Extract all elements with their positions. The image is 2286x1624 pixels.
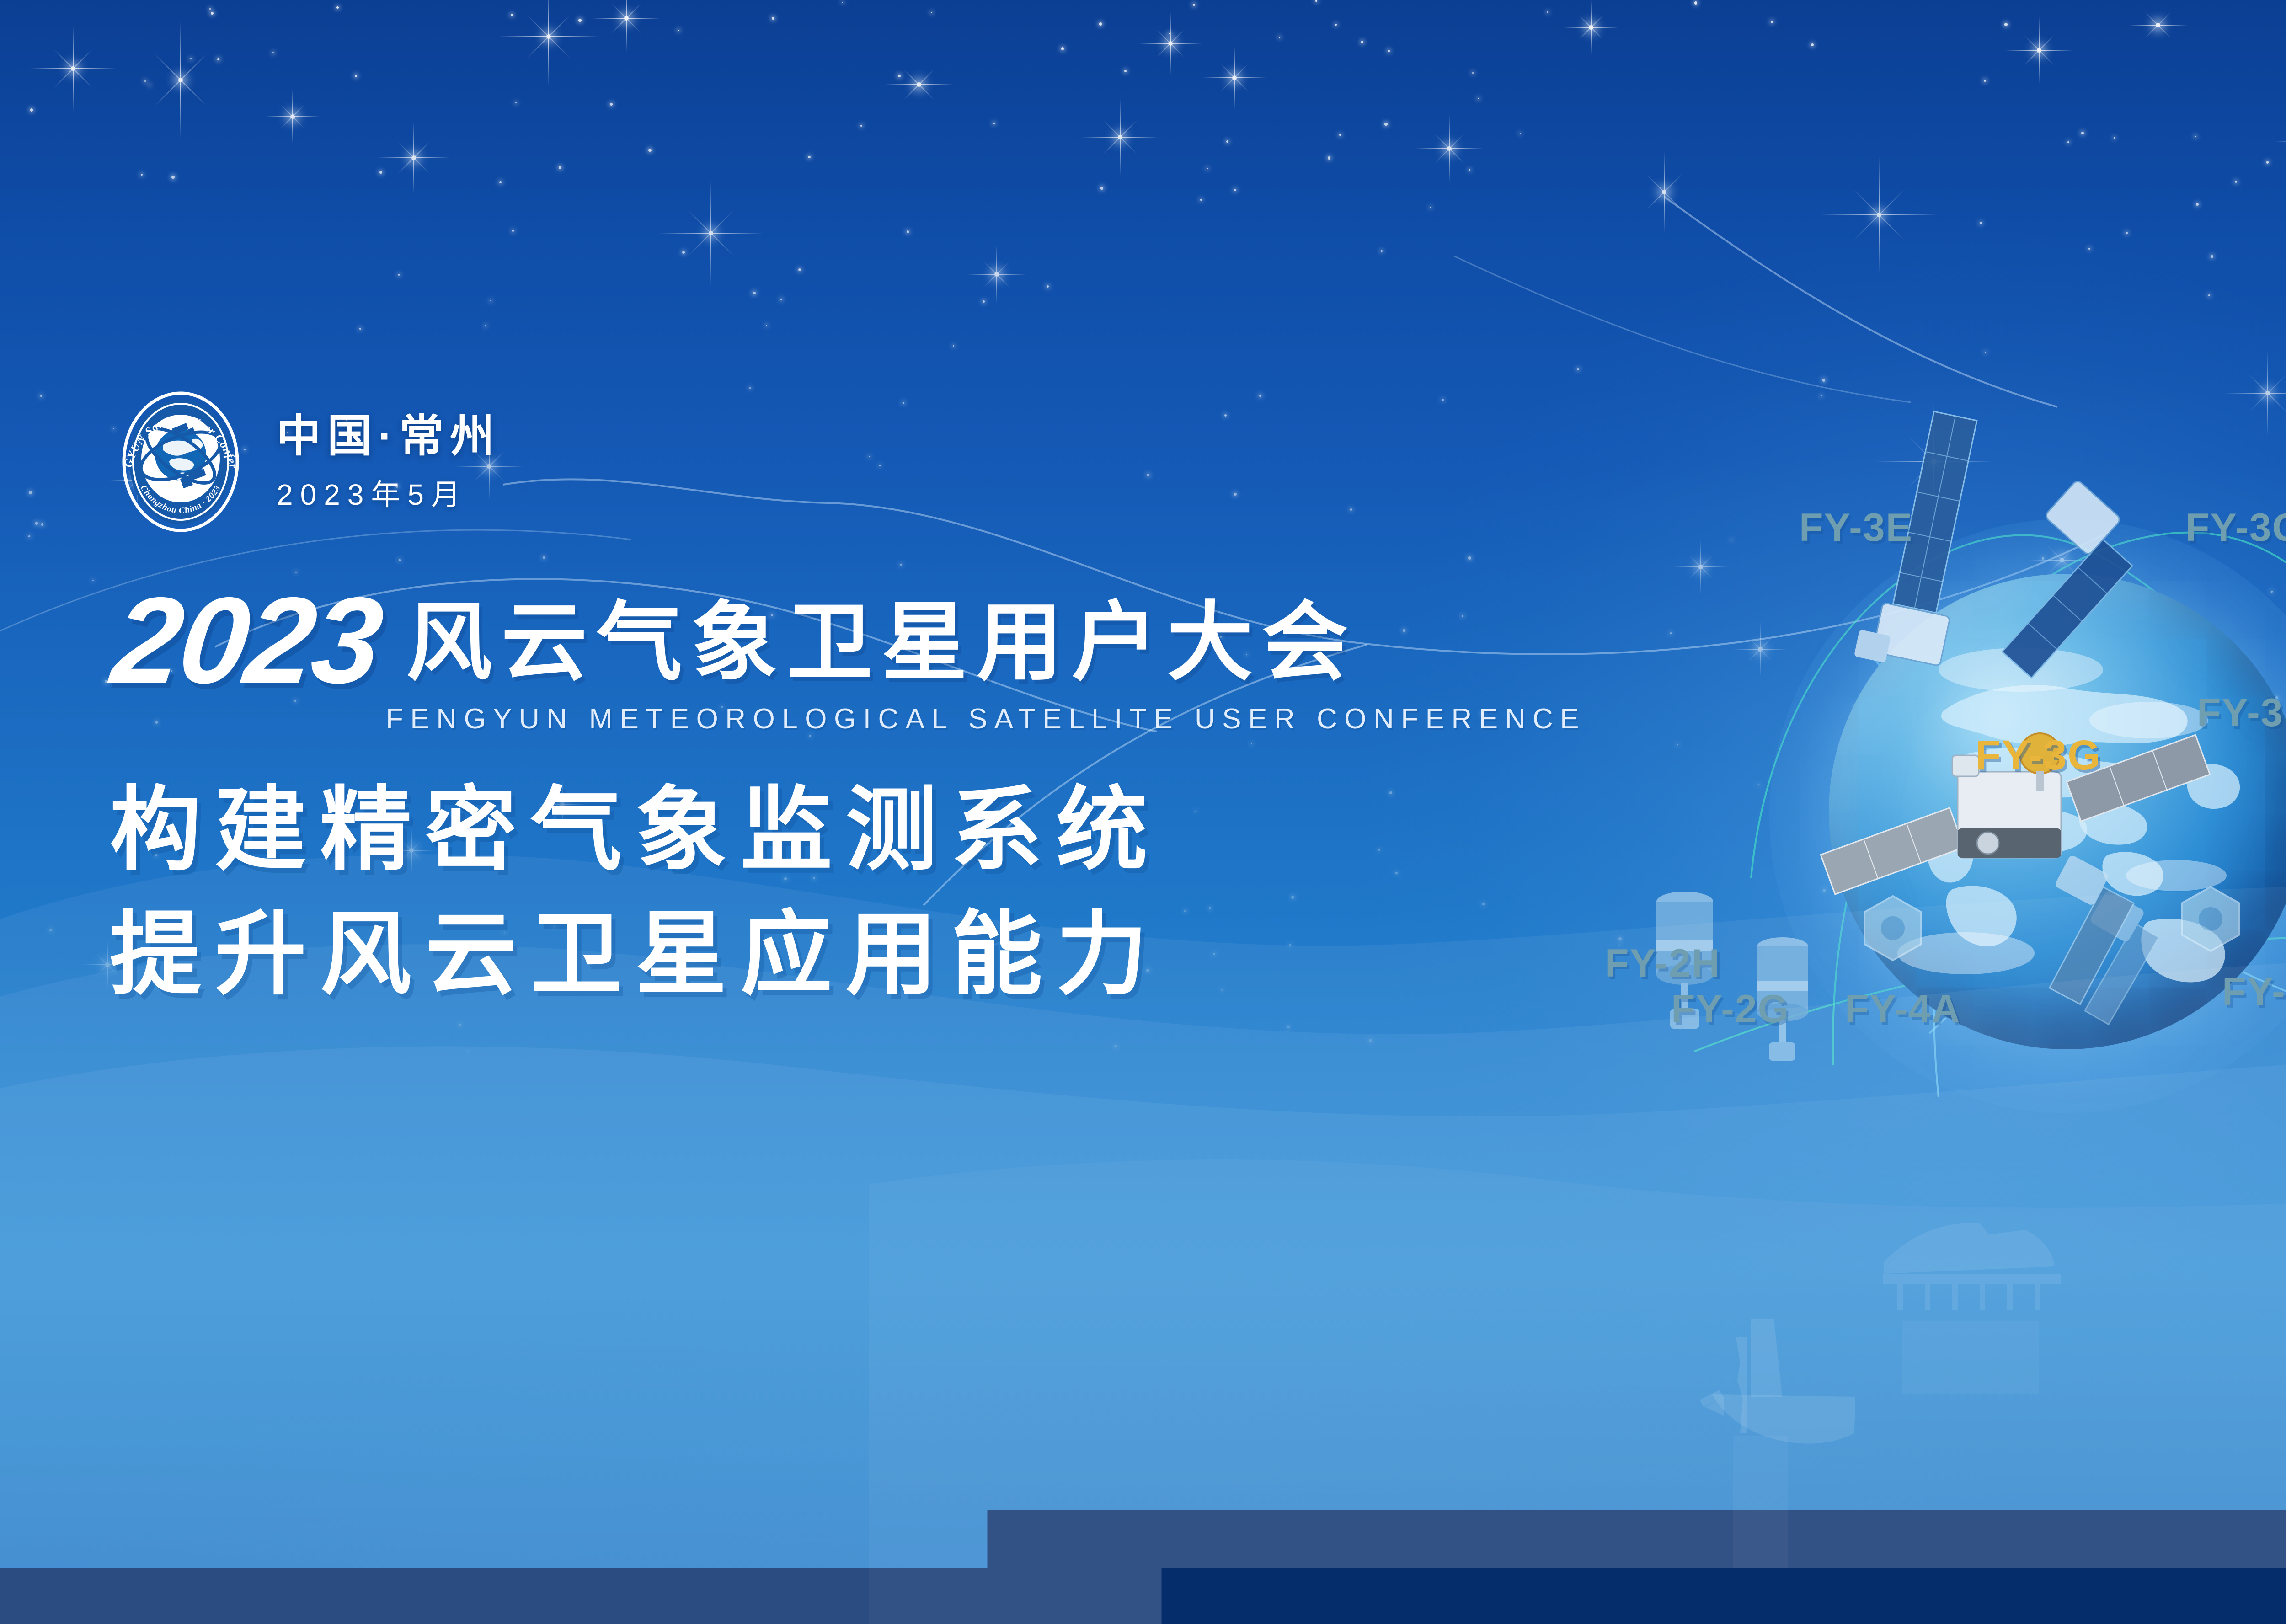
star-dot — [1234, 189, 1236, 191]
star-dot — [499, 181, 502, 184]
star-dot — [1388, 50, 1390, 52]
star-sparkle-icon — [498, 0, 599, 87]
star-dot — [1193, 4, 1195, 6]
star-sparkle-icon — [2005, 16, 2073, 85]
star-dot — [808, 156, 810, 158]
star-sparkle-icon — [2224, 350, 2286, 437]
logo-block: FENGYUN Satellite User Conference Changz… — [112, 386, 501, 537]
star-sparkle-icon — [2275, 103, 2286, 181]
star-dot — [578, 19, 582, 22]
star-dot — [217, 58, 219, 60]
star-dot — [1980, 222, 1982, 224]
satellite-label-fy-4b: FY-4B — [2222, 969, 2286, 1015]
sailboat-silhouette — [1700, 1319, 1855, 1444]
star-dot — [1442, 399, 1444, 401]
star-dot — [1430, 207, 1431, 208]
star-dot — [798, 268, 801, 271]
star-dot — [1213, 953, 1215, 955]
star-dot — [459, 1024, 461, 1026]
star-sparkle-icon — [1820, 155, 1939, 274]
star-sparkle-icon — [1733, 622, 1788, 677]
star-dot — [780, 299, 782, 300]
star-dot — [1472, 72, 1474, 74]
star-sparkle-icon — [121, 21, 240, 139]
star-dot — [869, 456, 870, 457]
star-dot — [1381, 250, 1383, 252]
star-dot — [30, 108, 33, 112]
star-dot — [993, 123, 995, 124]
star-sparkle-icon — [2128, 0, 2188, 55]
conference-poster: FENGYUN Satellite User Conference Changz… — [0, 0, 2286, 1624]
star-dot — [1224, 414, 1227, 417]
star-dot — [1984, 80, 1986, 82]
star-dot — [2081, 132, 2084, 134]
star-dot — [1251, 743, 1252, 744]
star-dot — [1291, 896, 1294, 899]
star-sparkle-icon — [30, 25, 117, 112]
star-dot — [1694, 1, 1698, 5]
star-dot — [2211, 255, 2213, 258]
star-sparkle-icon — [265, 89, 320, 144]
star-dot — [105, 680, 107, 683]
star-dot — [1395, 872, 1398, 874]
star-dot — [1279, 37, 1280, 38]
skyline-silhouette — [1883, 1223, 2061, 1310]
star-dot — [1339, 134, 1341, 136]
star-dot — [399, 559, 401, 561]
star-dot — [2004, 23, 2008, 26]
star-dot — [141, 174, 143, 176]
star-dot — [2196, 203, 2199, 206]
star-dot — [1378, 849, 1380, 851]
star-dot — [190, 58, 192, 59]
star-dot — [749, 387, 751, 389]
star-dot — [2266, 161, 2269, 164]
star-dot — [1811, 43, 1814, 47]
star-dot — [648, 149, 651, 151]
star-dot — [1169, 33, 1170, 35]
star-dot — [40, 395, 42, 397]
star-dot — [1758, 784, 1759, 785]
city-date-block: 中国·常州 2023年5月 — [277, 410, 501, 513]
star-dot — [1207, 168, 1208, 169]
star-dot — [2208, 294, 2210, 296]
star-dot — [1821, 395, 1822, 397]
date-label: 2023年5月 — [277, 471, 501, 513]
star-dot — [490, 300, 491, 302]
star-sparkle-icon — [967, 245, 1026, 304]
slogan-block: 构建精密气象监测系统 提升风云卫星应用能力 — [110, 768, 1161, 1017]
star-dot — [28, 535, 30, 537]
star-dot — [1328, 156, 1330, 159]
star-dot — [1771, 21, 1773, 23]
star-sparkle-icon — [885, 50, 953, 119]
star-dot — [1209, 907, 1211, 909]
star-dot — [879, 465, 881, 467]
star-dot — [1482, 903, 1485, 905]
star-dot — [468, 1051, 469, 1052]
star-dot — [1047, 285, 1049, 288]
satellite-label-fy-3g: FY-3G — [1975, 732, 2101, 780]
star-dot — [41, 523, 43, 525]
star-dot — [355, 75, 357, 77]
star-dot — [907, 230, 909, 233]
star-dot — [898, 75, 901, 77]
satellite-label-fy-3c: FY-3C — [2185, 505, 2286, 550]
star-dot — [1114, 1045, 1116, 1047]
star-dot — [1469, 169, 1470, 171]
star-dot — [931, 12, 932, 13]
star-dot — [171, 176, 175, 179]
star-dot — [211, 12, 214, 15]
globe-sphere — [1829, 574, 2286, 1049]
conference-title-cn: 风云气象卫星用户大会 — [406, 599, 1357, 693]
star-dot — [1234, 493, 1236, 496]
star-dot — [1061, 47, 1064, 50]
star-dot — [1369, 1039, 1372, 1042]
star-dot — [1200, 199, 1202, 200]
star-dot — [682, 251, 685, 254]
star-dot — [1221, 989, 1223, 991]
star-dot — [512, 230, 514, 232]
satellite-label-fy-2g: FY-2G — [1671, 987, 1789, 1032]
star-dot — [1547, 11, 1548, 12]
star-sparkle-icon — [1875, 402, 1993, 521]
star-dot — [1195, 811, 1196, 812]
star-sparkle-icon — [1202, 46, 1266, 110]
star-sparkle-icon — [592, 0, 661, 53]
star-dot — [1731, 540, 1732, 540]
star-dot — [1184, 910, 1186, 912]
star-dot — [359, 328, 361, 329]
star-dot — [49, 929, 52, 932]
star-dot — [1350, 508, 1352, 511]
star-sparkle-icon — [658, 181, 764, 286]
star-dot — [1226, 140, 1228, 143]
star-sparkle-icon — [1081, 98, 1159, 176]
star-dot — [842, 2, 843, 3]
star-sparkle-icon — [1673, 540, 1728, 594]
slogan-line-1: 构建精密气象监测系统 — [110, 768, 1161, 892]
star-dot — [1384, 123, 1388, 126]
headline-block: 2023 风云气象卫星用户大会 FENGYUN METEOROLOGICAL S… — [114, 588, 1714, 735]
star-dot — [1124, 70, 1127, 72]
star-dot — [2114, 137, 2115, 139]
conference-title-en: FENGYUN METEOROLOGICAL SATELLITE USER CO… — [386, 703, 1714, 735]
star-dot — [1677, 744, 1678, 745]
star-dot — [1520, 133, 1521, 134]
star-dot — [1099, 22, 1102, 25]
star-dot — [272, 52, 274, 53]
satellite-label-fy-3e: FY-3E — [1799, 505, 1913, 550]
star-dot — [1577, 368, 1579, 370]
star-dot — [1289, 944, 1291, 946]
star-dot — [1259, 395, 1261, 397]
star-dot — [2235, 181, 2237, 183]
star-dot — [983, 300, 985, 303]
star-dot — [900, 564, 902, 566]
star-dot — [1389, 791, 1392, 794]
star-dot — [1100, 187, 1103, 189]
star-dot — [29, 491, 32, 494]
slogan-line-2: 提升风云卫星应用能力 — [110, 892, 1161, 1017]
star-sparkle-icon — [1623, 151, 1705, 233]
star-dot — [1478, 98, 1479, 99]
star-dot — [1985, 352, 1986, 353]
star-sparkle-icon — [1138, 11, 1202, 75]
conference-emblem-icon: FENGYUN Satellite User Conference Changz… — [112, 386, 249, 537]
star-dot — [144, 80, 146, 82]
star-dot — [610, 103, 613, 106]
year-label: 2023 — [108, 588, 386, 693]
star-dot — [1468, 556, 1471, 560]
star-dot — [1315, 0, 1317, 2]
star-dot — [511, 14, 513, 16]
star-dot — [2088, 248, 2090, 250]
star-dot — [903, 402, 904, 404]
star-sparkle-icon — [1415, 114, 1484, 183]
star-dot — [2067, 141, 2069, 143]
star-dot — [1147, 474, 1150, 476]
star-dot — [1618, 937, 1622, 940]
star-dot — [678, 30, 679, 31]
star-dot — [485, 325, 486, 326]
star-dot — [860, 125, 862, 127]
star-dot — [953, 345, 954, 346]
globe-edge-ring — [1829, 574, 2286, 1049]
star-dot — [336, 6, 339, 9]
star-dot — [1287, 1026, 1290, 1028]
star-dot — [1361, 41, 1364, 43]
star-dot — [766, 325, 768, 326]
city-label: 中国·常州 — [277, 413, 501, 459]
star-sparkle-icon — [1564, 0, 1618, 55]
star-dot — [398, 274, 400, 275]
star-dot — [772, 17, 774, 20]
star-dot — [92, 580, 93, 581]
star-sparkle-icon — [377, 121, 450, 194]
star-dot — [753, 292, 755, 294]
star-dot — [515, 102, 517, 104]
star-dot — [209, 8, 211, 10]
star-dot — [149, 85, 150, 85]
star-dot — [379, 171, 382, 174]
star-dot — [1335, 24, 1337, 26]
star-dot — [2195, 136, 2196, 138]
star-dot — [559, 166, 561, 169]
satellite-label-fy-4a: FY-4A — [1845, 987, 1961, 1032]
satellite-label-fy-3d: FY-3D — [2197, 690, 2286, 736]
star-dot — [1822, 379, 1826, 382]
star-dot — [2126, 232, 2128, 234]
satellite-label-fy-2h: FY-2H — [1605, 941, 1721, 986]
star-dot — [35, 522, 38, 524]
star-dot — [543, 556, 545, 559]
